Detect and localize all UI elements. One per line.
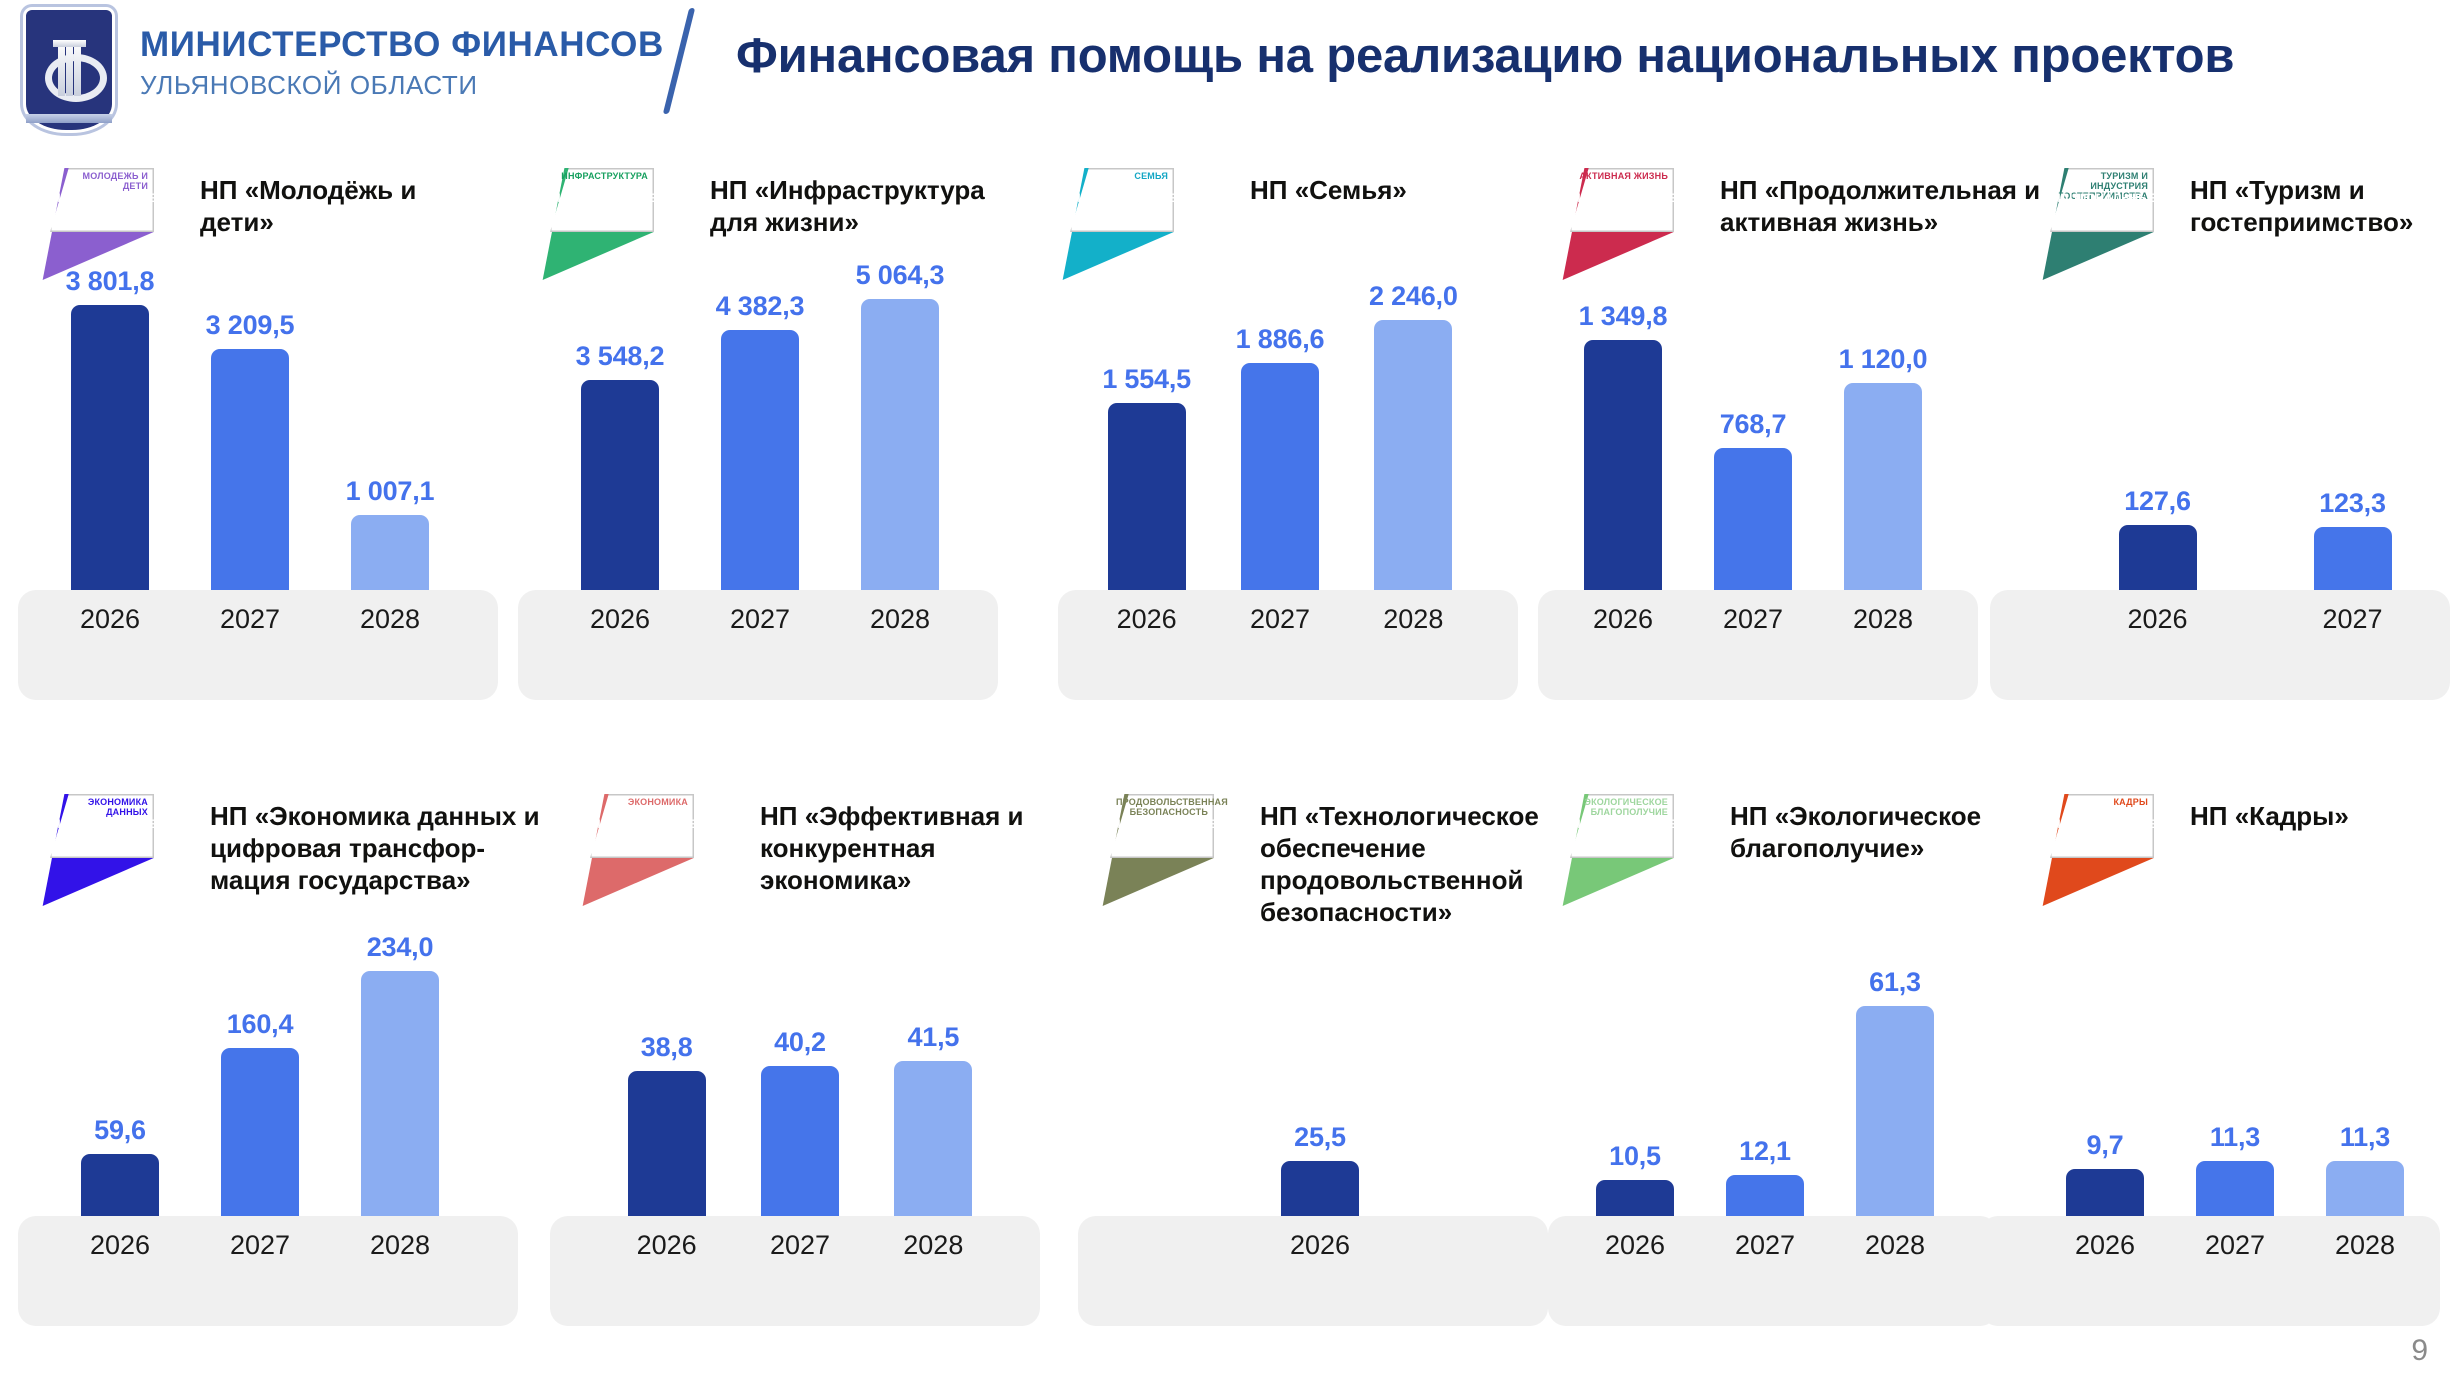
chart-row-2: ЭКОНОМИКА ДАННЫХНАЦИОНАЛЬНЫЕ ПРОЕКТЫ РОС… (0, 786, 2462, 1386)
bar-column: 3 209,5 (180, 260, 320, 590)
badge-category-label: ПРОДОВОЛЬСТВЕННАЯ БЕЗОПАСНОСТЬ (1116, 797, 1212, 817)
bar-column: 59,6 (50, 886, 190, 1216)
bar-value-label: 9,7 (2087, 1130, 2124, 1161)
bar-column: 1 554,5 (1080, 260, 1213, 590)
year-label: 2026 (1290, 1230, 1350, 1261)
bar-chart: 1 349,8768,71 120,0202620272028 (1520, 280, 2000, 760)
bar (2066, 1169, 2144, 1216)
year-label: 2027 (220, 604, 280, 635)
badge-category-label: КАДРЫ (2056, 797, 2152, 807)
bar-value-label: 768,7 (1720, 409, 1787, 440)
project-chart-card: ИНФРАСТРУКТУРАНАЦИОНАЛЬНЫЕ ПРОЕКТЫ РОССИ… (500, 160, 1020, 760)
bar-value-label: 11,3 (2340, 1122, 2390, 1153)
org-line-ministry: МИНИСТЕРСТВО ФИНАНСОВ (140, 24, 664, 66)
badge-national-projects-label: НАЦИОНАЛЬНЫЕ ПРОЕКТЫ РОССИИ (552, 192, 644, 230)
badge-national-projects-label: НАЦИОНАЛЬНЫЕ ПРОЕКТЫ РОССИИ (1572, 818, 1664, 856)
bar-value-label: 12,1 (1739, 1136, 1791, 1167)
year-label: 2026 (80, 604, 140, 635)
year-label: 2026 (637, 1230, 697, 1261)
bar-value-label: 11,3 (2210, 1122, 2260, 1153)
bar-column: 127,6 (2060, 260, 2255, 590)
chart-row-1: МОЛОДЕЖЬ И ДЕТИНАЦИОНАЛЬНЫЕ ПРОЕКТЫ РОСС… (0, 160, 2462, 760)
bar-group: 59,6160,4234,0 (50, 886, 470, 1216)
card-title: НП «Семья» (1250, 174, 1500, 206)
bar (1108, 403, 1186, 590)
bar-group: 127,6123,3 (2060, 260, 2450, 590)
bar-group: 10,512,161,3 (1570, 886, 1960, 1216)
bar (1596, 1180, 1674, 1216)
bar-column: 123,3 (2255, 260, 2450, 590)
year-label: 2028 (370, 1230, 430, 1261)
badge-national-projects-label: НАЦИОНАЛЬНЫЕ ПРОЕКТЫ РОССИИ (2052, 192, 2144, 230)
project-chart-card: СЕМЬЯНАЦИОНАЛЬНЫЕ ПРОЕКТЫ РОССИИНП «Семь… (1020, 160, 1520, 760)
bar-value-label: 25,5 (1294, 1122, 1346, 1153)
ministry-emblem-icon (14, 6, 124, 146)
bar-value-label: 1 007,1 (346, 476, 435, 507)
bar-group: 1 554,51 886,62 246,0 (1080, 260, 1480, 590)
year-label: 2027 (230, 1230, 290, 1261)
bar-value-label: 41,5 (907, 1022, 959, 1053)
card-title: НП «Молодёжь и дети» (200, 174, 490, 238)
project-chart-card: КАДРЫНАЦИОНАЛЬНЫЕ ПРОЕКТЫ РОССИИНП «Кадр… (2000, 786, 2462, 1386)
bar-column: 234,0 (330, 886, 470, 1216)
bar-value-label: 1 554,5 (1102, 364, 1191, 395)
bar-column: 38,8 (600, 886, 733, 1216)
badge-national-projects-label: НАЦИОНАЛЬНЫЕ ПРОЕКТЫ РОССИИ (52, 192, 144, 230)
bar-chart: 59,6160,4234,0202620272028 (0, 906, 540, 1386)
bar-value-label: 4 382,3 (716, 291, 805, 322)
badge-national-projects-label: НАЦИОНАЛЬНЫЕ ПРОЕКТЫ РОССИИ (1112, 818, 1204, 856)
project-chart-card: МОЛОДЕЖЬ И ДЕТИНАЦИОНАЛЬНЫЕ ПРОЕКТЫ РОСС… (0, 160, 500, 760)
bar-column: 41,5 (867, 886, 1000, 1216)
bar (221, 1048, 299, 1216)
bar-value-label: 123,3 (2319, 488, 2386, 519)
bar-column: 1 886,6 (1213, 260, 1346, 590)
card-title: НП «Инфраструктура для жизни» (710, 174, 1010, 238)
year-label: 2027 (1723, 604, 1783, 635)
bar (581, 380, 659, 590)
badge-category-label: ЭКОЛОГИЧЕСКОЕ БЛАГОПОЛУЧИЕ (1576, 797, 1672, 817)
bar-value-label: 40,2 (774, 1027, 826, 1058)
project-chart-card: ТУРИЗМ И ИНДУСТРИЯ ГОСТЕПРИИМСТВАНАЦИОНА… (2000, 160, 2462, 760)
bar (1856, 1006, 1934, 1216)
bar-value-label: 3 801,8 (66, 266, 155, 297)
bar-chart: 3 801,83 209,51 007,1202620272028 (0, 280, 500, 760)
badge-national-projects-label: НАЦИОНАЛЬНЫЕ ПРОЕКТЫ РОССИИ (52, 818, 144, 856)
year-label: 2026 (1593, 604, 1653, 635)
bar-group: 3 801,83 209,51 007,1 (40, 260, 460, 590)
bar-group: 1 349,8768,71 120,0 (1558, 260, 1948, 590)
bar-value-label: 234,0 (367, 932, 434, 963)
bar (351, 515, 429, 590)
organization-name: МИНИСТЕРСТВО ФИНАНСОВ УЛЬЯНОВСКОЙ ОБЛАСТ… (140, 24, 664, 102)
bar-value-label: 5 064,3 (856, 260, 945, 291)
bar-value-label: 2 246,0 (1369, 281, 1458, 312)
year-label: 2028 (1865, 1230, 1925, 1261)
bar (721, 330, 799, 590)
year-label: 2028 (360, 604, 420, 635)
project-chart-card: ЭКОНОМИКАНАЦИОНАЛЬНЫЕ ПРОЕКТЫ РОССИИНП «… (540, 786, 1060, 1386)
bar-value-label: 59,6 (94, 1115, 146, 1146)
bar-value-label: 160,4 (227, 1009, 294, 1040)
bar-value-label: 1 120,0 (1839, 344, 1928, 375)
badge-national-projects-label: НАЦИОНАЛЬНЫЕ ПРОЕКТЫ РОССИИ (2052, 818, 2144, 856)
project-chart-card: АКТИВНАЯ ЖИЗНЬНАЦИОНАЛЬНЫЕ ПРОЕКТЫ РОССИ… (1520, 160, 2000, 760)
year-label: 2028 (2335, 1230, 2395, 1261)
badge-national-projects-label: НАЦИОНАЛЬНЫЕ ПРОЕКТЫ РОССИИ (592, 818, 684, 856)
bar-chart: 127,6123,320262027 (2000, 280, 2462, 760)
badge-category-label: МОЛОДЕЖЬ И ДЕТИ (56, 171, 152, 191)
bar-value-label: 61,3 (1869, 967, 1921, 998)
bar (1241, 363, 1319, 590)
card-title: НП «Туризм и гостеприимство» (2190, 174, 2460, 238)
bar (81, 1154, 159, 1216)
year-label: 2026 (1605, 1230, 1665, 1261)
project-chart-card: ЭКОНОМИКА ДАННЫХНАЦИОНАЛЬНЫЕ ПРОЕКТЫ РОС… (0, 786, 540, 1386)
bar-column: 12,1 (1700, 886, 1830, 1216)
bar (894, 1061, 972, 1216)
bar (1374, 320, 1452, 590)
bar-value-label: 3 209,5 (206, 310, 295, 341)
bar-chart: 3 548,24 382,35 064,3202620272028 (500, 280, 1020, 760)
bar (1714, 448, 1792, 590)
org-line-region: УЛЬЯНОВСКОЙ ОБЛАСТИ (140, 68, 664, 102)
bar (2326, 1161, 2404, 1216)
bar-column: 3 548,2 (550, 260, 690, 590)
year-label: 2026 (2127, 604, 2187, 635)
year-label: 2027 (770, 1230, 830, 1261)
year-label: 2027 (1735, 1230, 1795, 1261)
bar-column: 40,2 (733, 886, 866, 1216)
badge-category-label: АКТИВНАЯ ЖИЗНЬ (1576, 171, 1672, 181)
bar-chart: 38,840,241,5202620272028 (540, 906, 1060, 1386)
year-label: 2028 (1853, 604, 1913, 635)
year-label: 2027 (2205, 1230, 2265, 1261)
bar (2196, 1161, 2274, 1216)
bar-group: 25,5 (1130, 886, 1510, 1216)
bar (1844, 383, 1922, 590)
bar (628, 1071, 706, 1216)
year-label: 2026 (90, 1230, 150, 1261)
bar-column: 1 349,8 (1558, 260, 1688, 590)
bar (2314, 527, 2392, 590)
bar (1281, 1161, 1359, 1216)
bar (2119, 525, 2197, 590)
bar-value-label: 10,5 (1609, 1141, 1661, 1172)
bar (71, 305, 149, 590)
badge-category-label: ЭКОНОМИКА (596, 797, 692, 807)
bar-column: 4 382,3 (690, 260, 830, 590)
project-chart-card: ЭКОЛОГИЧЕСКОЕ БЛАГОПОЛУЧИЕНАЦИОНАЛЬНЫЕ П… (1520, 786, 2000, 1386)
year-label: 2027 (2322, 604, 2382, 635)
card-title: НП «Кадры» (2190, 800, 2450, 832)
bar-value-label: 127,6 (2124, 486, 2191, 517)
card-title: НП «Экономика данных и цифровая трансфор… (210, 800, 540, 896)
bar (1584, 340, 1662, 590)
bar-column: 1 007,1 (320, 260, 460, 590)
card-title: НП «Эффективная и конкурентная экономика… (760, 800, 1060, 896)
bar-column: 5 064,3 (830, 260, 970, 590)
bar (211, 349, 289, 590)
slide-header: МИНИСТЕРСТВО ФИНАНСОВ УЛЬЯНОВСКОЙ ОБЛАСТ… (0, 0, 2462, 120)
bar-column: 3 801,8 (40, 260, 180, 590)
project-chart-card: ПРОДОВОЛЬСТВЕННАЯ БЕЗОПАСНОСТЬНАЦИОНАЛЬН… (1060, 786, 1560, 1386)
page-number: 9 (2411, 1334, 2428, 1368)
year-label: 2026 (590, 604, 650, 635)
bar-value-label: 1 349,8 (1579, 301, 1668, 332)
bar-column: 11,3 (2300, 886, 2430, 1216)
bar-chart: 1 554,51 886,62 246,0202620272028 (1020, 280, 1520, 760)
bar-column: 2 246,0 (1347, 260, 1480, 590)
badge-category-label: СЕМЬЯ (1076, 171, 1172, 181)
badge-category-label: ЭКОНОМИКА ДАННЫХ (56, 797, 152, 817)
bar-column: 11,3 (2170, 886, 2300, 1216)
bar-column: 61,3 (1830, 886, 1960, 1216)
year-label: 2027 (1250, 604, 1310, 635)
year-label: 2026 (2075, 1230, 2135, 1261)
year-label: 2028 (1383, 604, 1443, 635)
badge-national-projects-label: НАЦИОНАЛЬНЫЕ ПРОЕКТЫ РОССИИ (1072, 192, 1164, 230)
bar-column: 1 120,0 (1818, 260, 1948, 590)
bar-column: 10,5 (1570, 886, 1700, 1216)
bar-column: 25,5 (1130, 886, 1510, 1216)
badge-national-projects-label: НАЦИОНАЛЬНЫЕ ПРОЕКТЫ РОССИИ (1572, 192, 1664, 230)
bar-value-label: 38,8 (641, 1032, 693, 1063)
year-label: 2028 (870, 604, 930, 635)
bar (861, 299, 939, 590)
bar-group: 38,840,241,5 (600, 886, 1000, 1216)
bar (1726, 1175, 1804, 1216)
bar (361, 971, 439, 1216)
bar-chart: 25,52026 (1060, 906, 1560, 1386)
bar-value-label: 1 886,6 (1236, 324, 1325, 355)
bar-group: 3 548,24 382,35 064,3 (550, 260, 970, 590)
bar-group: 9,711,311,3 (2040, 886, 2430, 1216)
bar-column: 9,7 (2040, 886, 2170, 1216)
header-divider (663, 8, 695, 114)
bar-column: 768,7 (1688, 260, 1818, 590)
bar-value-label: 3 548,2 (576, 341, 665, 372)
year-label: 2026 (1117, 604, 1177, 635)
badge-category-label: ИНФРАСТРУКТУРА (556, 171, 652, 181)
page-title: Финансовая помощь на реализацию национал… (736, 28, 2234, 84)
year-label: 2028 (903, 1230, 963, 1261)
bar (761, 1066, 839, 1216)
bar-chart: 10,512,161,3202620272028 (1520, 906, 2000, 1386)
bar-column: 160,4 (190, 886, 330, 1216)
bar-chart: 9,711,311,3202620272028 (2000, 906, 2462, 1386)
year-label: 2027 (730, 604, 790, 635)
